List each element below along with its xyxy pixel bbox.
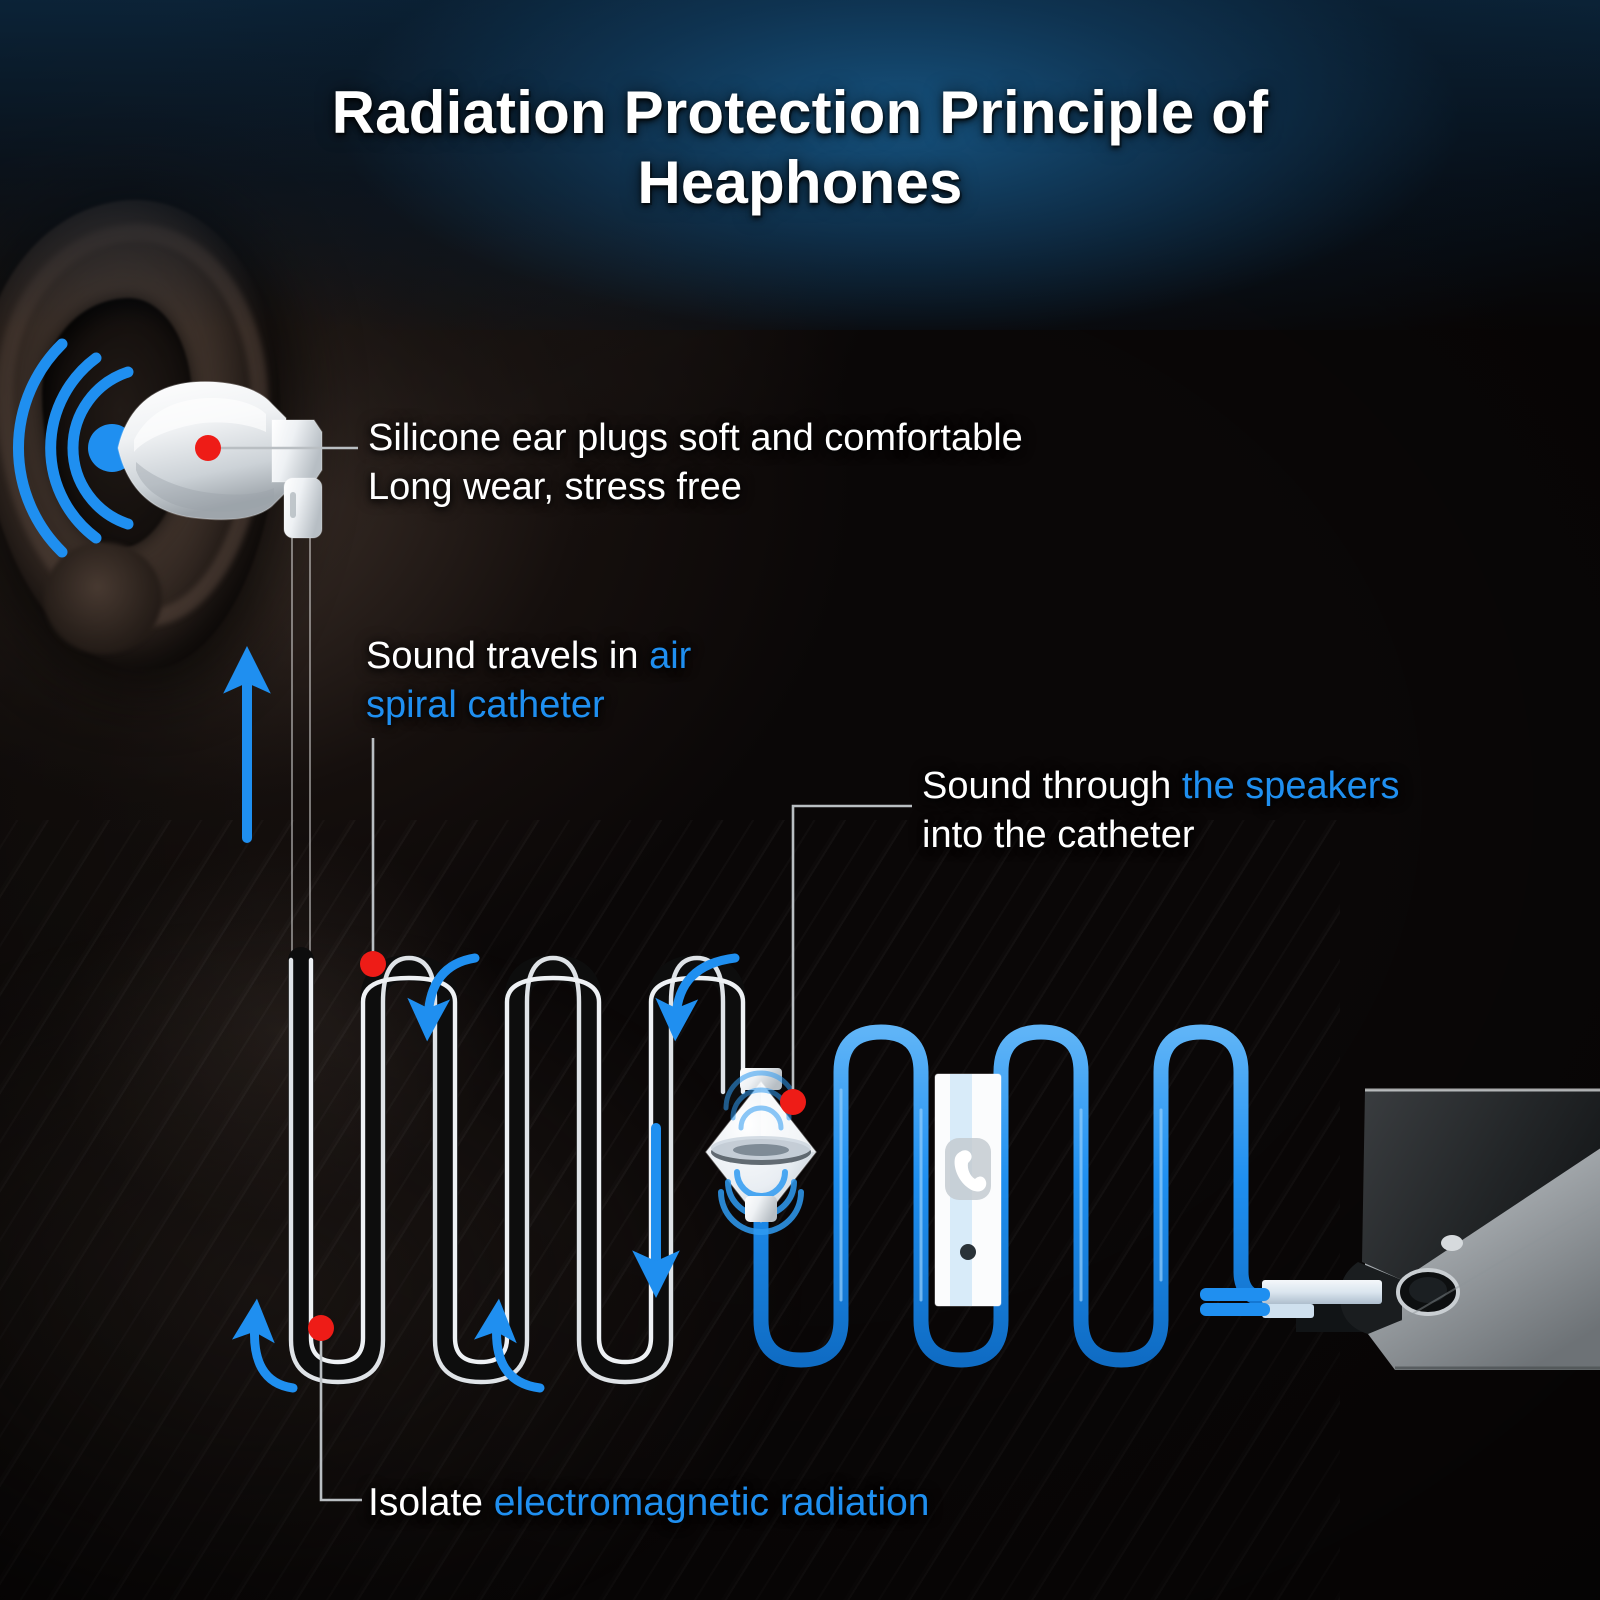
infographic-canvas: Radiation Protection Principle of Heapho…	[0, 0, 1600, 1600]
flash-led	[1441, 1235, 1463, 1251]
label-speakers-line1: Sound through the speakers	[922, 762, 1399, 811]
label-isolate-highlight: electromagnetic radiation	[494, 1481, 930, 1524]
white-cable-from-earbud	[292, 538, 310, 966]
label-speakers: Sound through the speakers into the cath…	[922, 762, 1399, 859]
smartphone	[1296, 1090, 1600, 1370]
label-air-catheter: Sound travels in air spiral catheter	[366, 632, 691, 729]
microphone-dot	[960, 1244, 976, 1260]
label-speakers-plain: Sound through	[922, 765, 1182, 807]
earbud-marker	[195, 435, 221, 461]
label-ear-plugs-line1: Silicone ear plugs soft and comfortable	[368, 414, 1023, 463]
speaker-marker	[780, 1089, 806, 1115]
label-air-line1: Sound travels in air	[366, 632, 691, 681]
isolate-marker	[308, 1315, 334, 1341]
leader-speakers	[793, 806, 912, 1102]
phone-handset-icon[interactable]	[945, 1138, 991, 1200]
spiral-top-marker	[360, 951, 386, 977]
label-isolate: Isolate electromagnetic radiation	[368, 1478, 930, 1528]
inline-remote[interactable]	[935, 1074, 1001, 1306]
earbud	[118, 382, 322, 538]
label-ear-plugs-line2: Long wear, stress free	[368, 463, 1023, 512]
label-speakers-highlight: the speakers	[1182, 765, 1400, 807]
label-speakers-line2: into the catheter	[922, 811, 1399, 860]
label-isolate-plain: Isolate	[368, 1481, 494, 1524]
label-air-plain: Sound travels in	[366, 635, 649, 677]
marker-dots	[195, 435, 806, 1341]
label-air-line2: spiral catheter	[366, 681, 691, 730]
arrow-curve-up-1	[254, 1322, 293, 1388]
label-ear-plugs: Silicone ear plugs soft and comfortable …	[368, 414, 1023, 511]
label-air-highlight: air	[649, 635, 691, 677]
